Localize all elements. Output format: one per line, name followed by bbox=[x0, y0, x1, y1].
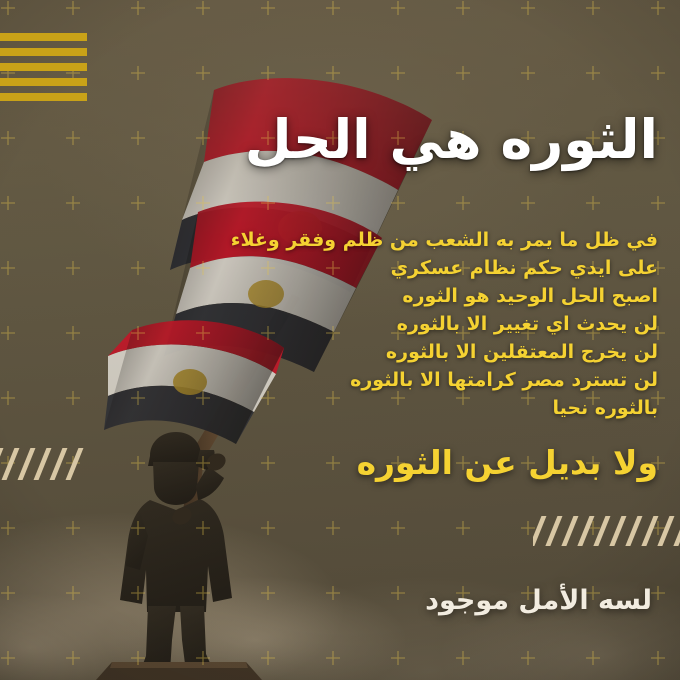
poster-body-text: في ظل ما يمر به الشعب من ظلم وفقر وغلاء … bbox=[228, 226, 658, 422]
gold-bar bbox=[0, 63, 87, 71]
poster-headline: الثوره هي الحل bbox=[158, 112, 658, 169]
body-line: لن يحدث اي تغيير الا بالثوره bbox=[228, 310, 658, 338]
body-line: على ايدي حكم نظام عسكري bbox=[228, 254, 658, 282]
body-line: لن تسترد مصر كرامتها الا بالثوره bbox=[228, 366, 658, 394]
gold-bar bbox=[0, 78, 87, 86]
poster-canvas: الثوره هي الحل في ظل ما يمر به الشعب من … bbox=[0, 0, 680, 680]
right-diagonal-stripes bbox=[533, 516, 680, 546]
gold-bar bbox=[0, 48, 87, 56]
body-line: في ظل ما يمر به الشعب من ظلم وفقر وغلاء bbox=[228, 226, 658, 254]
poster-footer-text: لسه الأمل موجود bbox=[232, 585, 652, 616]
body-line: اصبح الحل الوحيد هو الثوره bbox=[228, 282, 658, 310]
body-line: لن يخرج المعتقلين الا بالثوره bbox=[228, 338, 658, 366]
poster-emphasis-slogan: ولا بديل عن الثوره bbox=[178, 445, 658, 481]
top-left-bars-decoration bbox=[0, 33, 87, 101]
body-line: بالثوره نحيا bbox=[228, 394, 658, 422]
gold-bar bbox=[0, 93, 87, 101]
left-diagonal-stripes bbox=[0, 448, 90, 480]
gold-bar bbox=[0, 33, 87, 41]
